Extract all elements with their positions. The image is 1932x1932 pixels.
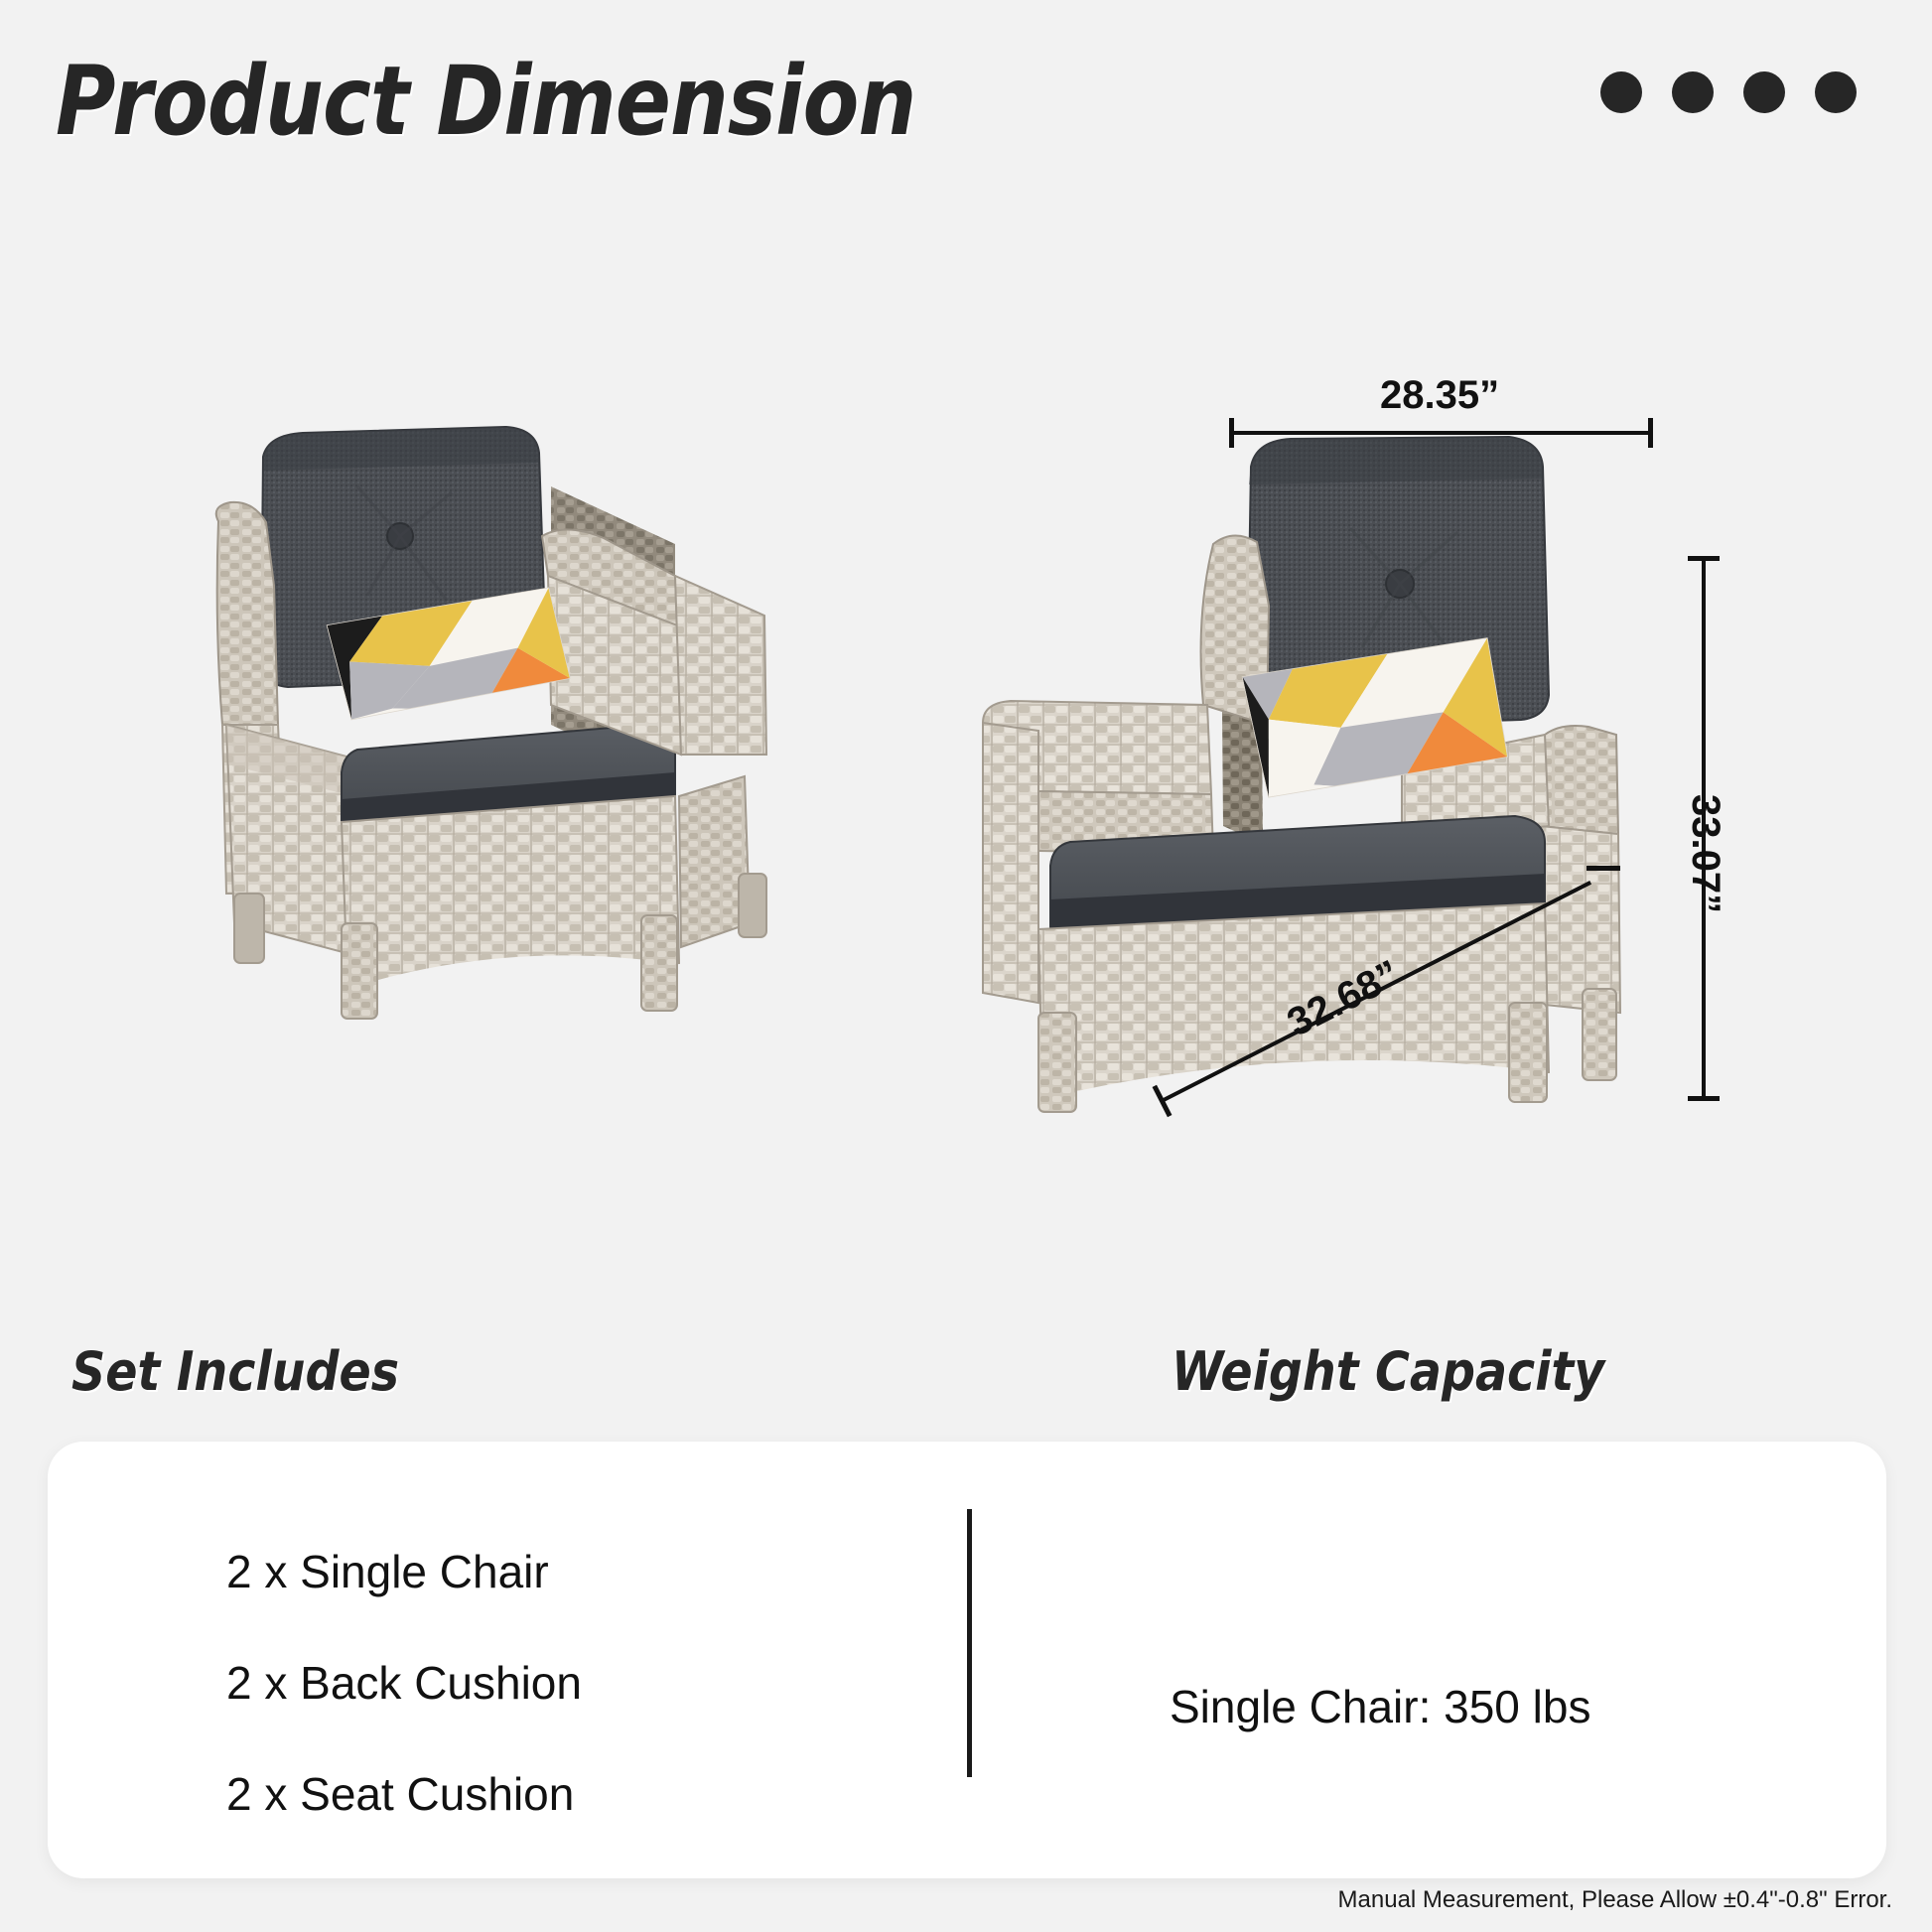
measurement-disclaimer: Manual Measurement, Please Allow ±0.4"-0… <box>1338 1886 1892 1914</box>
header-dot-icon <box>1600 71 1642 113</box>
list-item: 2 x Back Cushion <box>226 1660 582 1706</box>
dimension-width-label: 28.35” <box>1380 373 1499 418</box>
dimension-height-label: 33.07” <box>1683 794 1727 913</box>
header-dot-icon <box>1743 71 1785 113</box>
list-item: 2 x Single Chair <box>226 1549 582 1594</box>
list-item: 2 x Seat Cushion <box>226 1771 582 1817</box>
header-dot-icon <box>1672 71 1714 113</box>
info-card: 2 x Single Chair 2 x Back Cushion 2 x Se… <box>48 1442 1886 1878</box>
weight-capacity-heading: Weight Capacity <box>1172 1340 1604 1403</box>
card-divider <box>967 1509 972 1777</box>
infographic-canvas: Product Dimension <box>0 0 1932 1932</box>
dimension-depth: 32.68” <box>1162 1099 1718 1103</box>
set-includes-list: 2 x Single Chair 2 x Back Cushion 2 x Se… <box>226 1549 582 1882</box>
weight-capacity-value: Single Chair: 350 lbs <box>1170 1680 1590 1733</box>
chair-illustration-left <box>208 427 903 1082</box>
header-dot-icon <box>1815 71 1857 113</box>
page-title: Product Dimension <box>56 52 915 152</box>
header-dots <box>1600 71 1857 113</box>
set-includes-heading: Set Includes <box>71 1340 399 1403</box>
